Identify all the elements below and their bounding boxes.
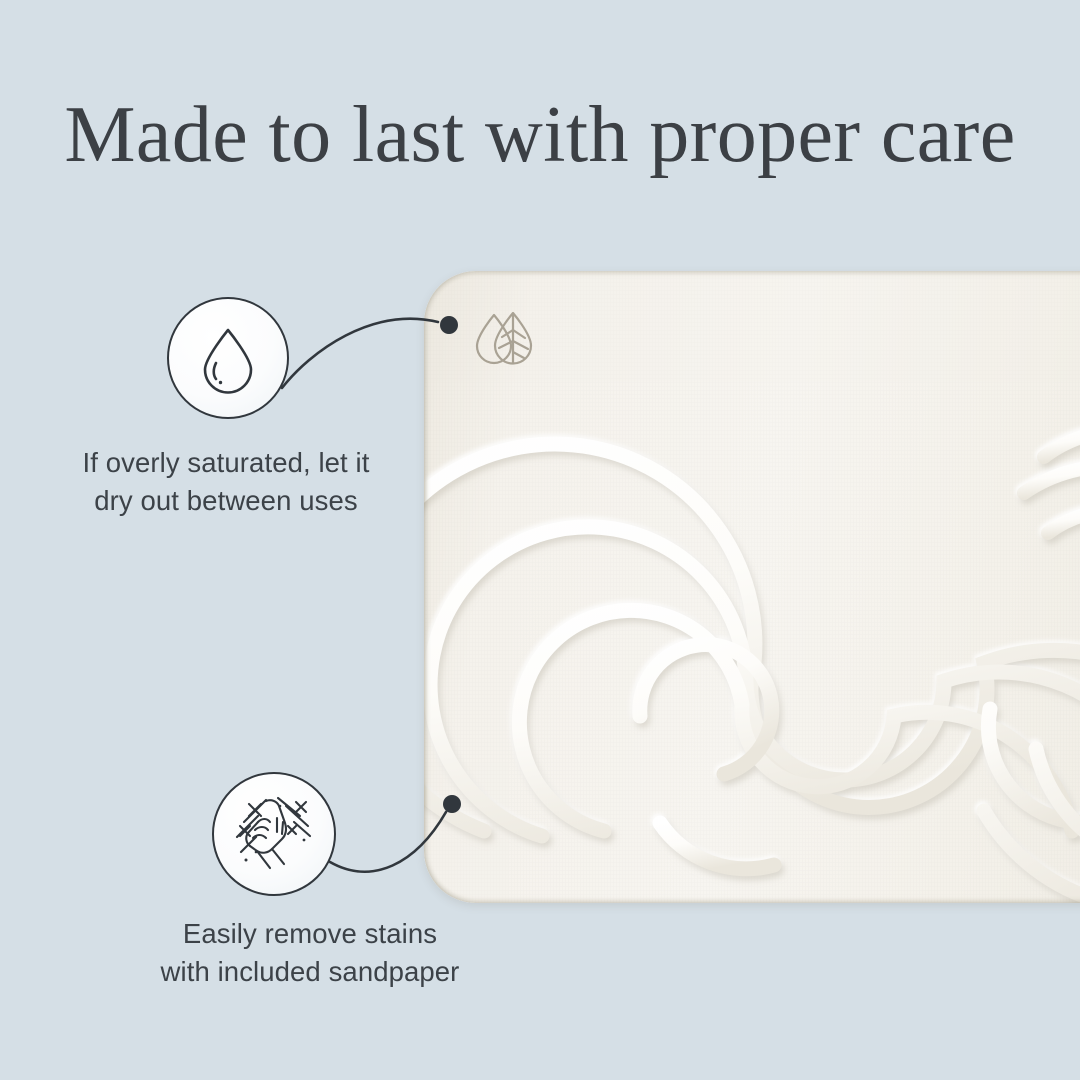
callout-icon-badge-sanding[interactable] bbox=[212, 772, 336, 896]
callout-caption-sanding-line2: with included sandpaper bbox=[161, 956, 460, 987]
water-droplet-icon bbox=[189, 319, 267, 397]
callout-caption-sanding-line1: Easily remove stains bbox=[183, 918, 437, 949]
callout-caption-sanding: Easily remove stains with included sandp… bbox=[56, 915, 564, 991]
bath-mat-surface bbox=[424, 271, 1080, 903]
connector-line-top bbox=[282, 319, 438, 388]
callout-caption-water: If overly saturated, let it dry out betw… bbox=[16, 444, 436, 520]
page-title: Made to last with proper care bbox=[0, 95, 1080, 175]
product-image bbox=[424, 271, 1080, 903]
infographic-canvas: Made to last with proper care bbox=[0, 0, 1080, 1080]
callout-caption-water-line1: If overly saturated, let it bbox=[83, 447, 370, 478]
callout-caption-water-line2: dry out between uses bbox=[94, 485, 357, 516]
callout-icon-badge-water[interactable] bbox=[167, 297, 289, 419]
hand-sanding-icon bbox=[222, 782, 326, 886]
droplet-leaf-logo bbox=[468, 303, 542, 377]
